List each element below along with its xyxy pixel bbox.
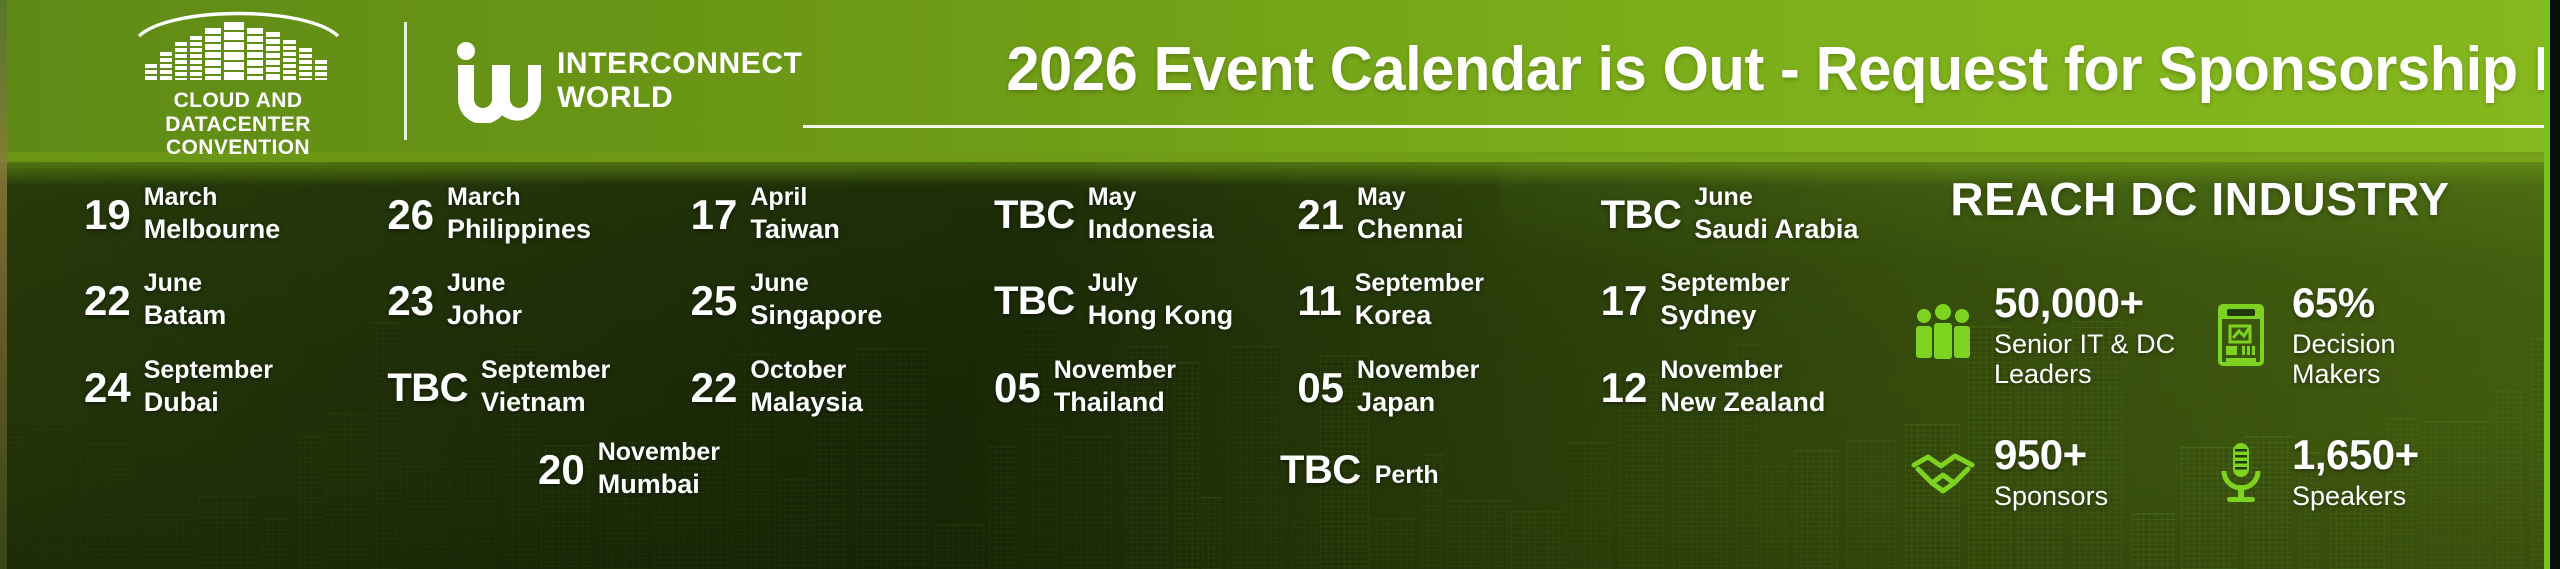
event-month: October [750, 355, 863, 386]
stat-label: Senior IT & DC Leaders [1994, 330, 2192, 389]
event-info: Perth [1375, 460, 1439, 491]
event-location: New Zealand [1660, 386, 1825, 419]
event-malaysia[interactable]: 22OctoberMalaysia [667, 355, 970, 419]
event-month: September [1660, 268, 1789, 299]
event-month: November [1357, 355, 1479, 386]
event-location: Dubai [144, 386, 273, 419]
event-location: Korea [1355, 299, 1484, 332]
interconnect-world-logo[interactable]: INTERCONNECT WORLD [453, 39, 803, 123]
event-day: 24 [84, 355, 131, 409]
stat-label: Decision Makers [2292, 330, 2490, 389]
event-calendar-grid: 19MarchMelbourne26MarchPhilippines17Apri… [0, 162, 1880, 569]
event-month: May [1088, 182, 1214, 213]
logo-divider [404, 22, 407, 140]
iw-wordmark: INTERCONNECT WORLD [557, 47, 803, 114]
event-day: TBC [994, 182, 1075, 235]
stat-value: 950+ [1994, 432, 2108, 478]
event-info: SeptemberKorea [1355, 268, 1484, 332]
event-info: OctoberMalaysia [750, 355, 863, 419]
left-edge-strip [0, 0, 7, 569]
event-singapore[interactable]: 25JuneSingapore [667, 268, 970, 332]
handshake-icon [1910, 439, 1976, 505]
stat-text: 950+Sponsors [1994, 432, 2108, 512]
event-day: 17 [1601, 268, 1648, 322]
event-location: Malaysia [750, 386, 863, 419]
reach-stats-panel: REACH DC INDUSTRY 50,000+Senior IT & DC … [1880, 162, 2560, 569]
event-day: 26 [387, 182, 434, 236]
event-chennai[interactable]: 21MayChennai [1273, 182, 1576, 246]
skyline-bars-icon [131, 2, 346, 82]
event-day: 19 [84, 182, 131, 236]
cloud-datacenter-convention-logo[interactable]: CLOUD AND DATACENTER CONVENTION [118, 2, 358, 161]
microphone-icon [2208, 439, 2274, 505]
event-info: SeptemberSydney [1660, 268, 1789, 332]
event-sydney[interactable]: 17SeptemberSydney [1577, 268, 1880, 332]
stat-text: 65%Decision Makers [2292, 280, 2490, 390]
event-dubai[interactable]: 24SeptemberDubai [60, 355, 363, 419]
stat-value: 65% [2292, 280, 2490, 326]
event-day: 21 [1297, 182, 1344, 236]
logo-lockup[interactable]: CLOUD AND DATACENTER CONVENTION INTERCON… [0, 2, 803, 161]
iw-line-2: WORLD [557, 81, 803, 115]
event-day: 23 [387, 268, 434, 322]
event-info: NovemberMumbai [598, 437, 720, 501]
event-location: Vietnam [481, 386, 610, 419]
event-taiwan[interactable]: 17AprilTaiwan [667, 182, 970, 246]
event-info: AprilTaiwan [750, 182, 840, 246]
event-day: 22 [691, 355, 738, 409]
event-info: SeptemberVietnam [481, 355, 610, 419]
event-location: Batam [144, 299, 227, 332]
event-day: TBC [994, 268, 1075, 321]
event-day: 20 [538, 437, 585, 491]
event-japan[interactable]: 05NovemberJapan [1273, 355, 1576, 419]
event-month: September [1355, 268, 1484, 299]
event-batam[interactable]: 22JuneBatam [60, 268, 363, 332]
stat-decision-makers: 65%Decision Makers [2208, 280, 2490, 390]
event-month: May [1357, 182, 1464, 213]
event-location: Sydney [1660, 299, 1789, 332]
stat-senior-it-dc-leaders: 50,000+Senior IT & DC Leaders [1910, 280, 2192, 390]
headline-zone: 2026 Event Calendar is Out - Request for… [803, 34, 2560, 128]
iw-monogram-icon [453, 39, 541, 123]
event-mumbai[interactable]: 20NovemberMumbai [514, 437, 720, 501]
event-day: 22 [84, 268, 131, 322]
event-info: JuneSingapore [750, 268, 882, 332]
event-hong-kong[interactable]: TBCJulyHong Kong [970, 268, 1273, 332]
stat-sponsors: 950+Sponsors [1910, 432, 2192, 512]
event-day: 12 [1601, 355, 1648, 409]
event-location: Perth [1375, 460, 1439, 491]
stat-text: 1,650+Speakers [2292, 432, 2419, 512]
event-mumbai[interactable]: 20NovemberMumbai [514, 437, 720, 501]
stat-value: 1,650+ [2292, 432, 2419, 478]
event-info: NovemberJapan [1357, 355, 1479, 419]
event-day: TBC [1280, 437, 1361, 490]
stat-label: Speakers [2292, 482, 2419, 512]
event-day: 05 [994, 355, 1041, 409]
event-info: MarchPhilippines [447, 182, 591, 246]
event-info: NovemberNew Zealand [1660, 355, 1825, 419]
event-location: Johor [447, 299, 522, 332]
stat-label: Sponsors [1994, 482, 2108, 512]
event-korea[interactable]: 11SeptemberKorea [1273, 268, 1576, 332]
event-month: September [481, 355, 610, 386]
headline-underline [803, 125, 2560, 128]
cdc-wordmark: CLOUD AND DATACENTER CONVENTION [165, 89, 311, 161]
event-month: November [598, 437, 720, 468]
server-rack-icon [2208, 302, 2274, 368]
event-info: JuneBatam [144, 268, 227, 332]
stats-title: REACH DC INDUSTRY [1910, 172, 2490, 226]
event-day: 11 [1297, 268, 1341, 322]
event-saudi-arabia[interactable]: TBCJuneSaudi Arabia [1577, 182, 1880, 246]
event-location: Singapore [750, 299, 882, 332]
event-thailand[interactable]: 05NovemberThailand [970, 355, 1273, 419]
event-location: Japan [1357, 386, 1479, 419]
event-location: Melbourne [144, 213, 281, 246]
stat-speakers: 1,650+Speakers [2208, 432, 2490, 512]
event-info: SeptemberDubai [144, 355, 273, 419]
event-day: TBC [387, 355, 468, 408]
event-calendar-extra-row: 20NovemberMumbai TBCPerth [60, 437, 1880, 501]
event-location: Philippines [447, 213, 591, 246]
cdc-line-1: CLOUD AND [165, 89, 311, 113]
event-month: September [144, 355, 273, 386]
event-info: JulyHong Kong [1088, 268, 1233, 332]
event-info: MayIndonesia [1088, 182, 1214, 246]
event-month: April [750, 182, 840, 213]
iw-line-1: INTERCONNECT [557, 47, 803, 81]
right-accent-line [2544, 0, 2550, 569]
event-perth[interactable]: TBCPerth [1280, 437, 1439, 501]
event-vietnam[interactable]: TBCSeptemberVietnam [363, 355, 666, 419]
event-location: Hong Kong [1088, 299, 1233, 332]
event-info: JuneJohor [447, 268, 522, 332]
event-month: June [144, 268, 227, 299]
page-title: 2026 Event Calendar is Out - Request for… [1007, 34, 2560, 105]
event-location: Taiwan [750, 213, 840, 246]
event-info: MarchMelbourne [144, 182, 281, 246]
event-location: Chennai [1357, 213, 1464, 246]
right-edge-dark [2550, 0, 2560, 569]
event-month: March [144, 182, 281, 213]
stat-text: 50,000+Senior IT & DC Leaders [1994, 280, 2192, 390]
event-johor[interactable]: 23JuneJohor [363, 268, 666, 332]
event-indonesia[interactable]: TBCMayIndonesia [970, 182, 1273, 246]
event-info: NovemberThailand [1054, 355, 1176, 419]
event-location: Indonesia [1088, 213, 1214, 246]
event-new-zealand[interactable]: 12NovemberNew Zealand [1577, 355, 1880, 419]
event-melbourne[interactable]: 19MarchMelbourne [60, 182, 363, 246]
event-day: 05 [1297, 355, 1344, 409]
event-location: Saudi Arabia [1694, 213, 1858, 246]
header-bar: CLOUD AND DATACENTER CONVENTION INTERCON… [0, 0, 2560, 162]
event-month: November [1660, 355, 1825, 386]
content-area: 19MarchMelbourne26MarchPhilippines17Apri… [0, 162, 2560, 569]
event-month: March [447, 182, 591, 213]
stat-value: 50,000+ [1994, 280, 2192, 326]
event-location: Mumbai [598, 468, 720, 501]
event-perth-inline[interactable]: TBCPerth [1280, 437, 1439, 501]
event-info: JuneSaudi Arabia [1694, 182, 1858, 246]
event-month: June [1694, 182, 1858, 213]
event-day: 25 [691, 268, 738, 322]
event-philippines[interactable]: 26MarchPhilippines [363, 182, 666, 246]
event-calendar-banner: CLOUD AND DATACENTER CONVENTION INTERCON… [0, 0, 2560, 569]
event-month: July [1088, 268, 1233, 299]
event-month: June [750, 268, 882, 299]
cdc-line-2: DATACENTER [165, 113, 311, 137]
event-month: June [447, 268, 522, 299]
event-info: MayChennai [1357, 182, 1464, 246]
event-location: Thailand [1054, 386, 1176, 419]
cdc-line-3: CONVENTION [165, 136, 311, 160]
event-day: 17 [691, 182, 738, 236]
event-day: TBC [1601, 182, 1682, 235]
event-month: November [1054, 355, 1176, 386]
people-group-icon [1910, 302, 1976, 368]
